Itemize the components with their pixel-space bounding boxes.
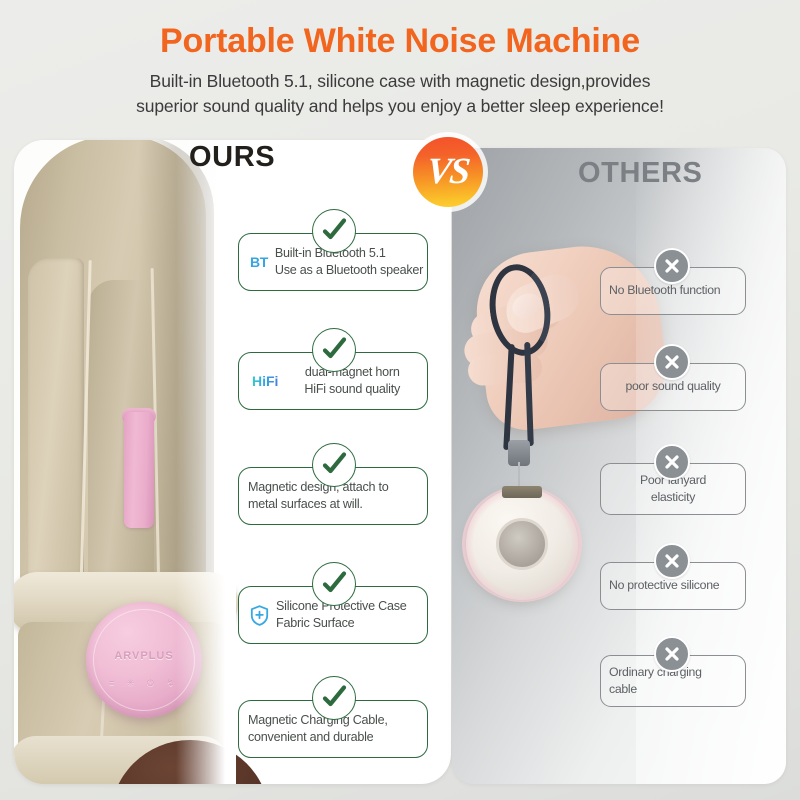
others-con-line: cable: [609, 681, 739, 698]
ours-feature-text: dual-magnet hornHiFi sound quality: [285, 364, 419, 399]
ours-feature-box[interactable]: BTBuilt-in Bluetooth 5.1Use as a Bluetoo…: [238, 233, 428, 291]
ours-product-photo: ARVPLUS ≡ ✳ ⏻ ↯: [14, 140, 236, 784]
check-icon: [312, 443, 356, 487]
check-icon: [312, 328, 356, 372]
ours-feature-line: dual-magnet horn: [285, 364, 419, 381]
check-icon: [312, 676, 356, 720]
others-con-line: No protective silicone: [609, 577, 739, 594]
ours-feature-text: Built-in Bluetooth 5.1Use as a Bluetooth…: [275, 245, 423, 280]
subtitle-line-2: superior sound quality and helps you enj…: [0, 94, 800, 119]
photo-fade-overlay: [176, 140, 236, 784]
ours-feature-line: HiFi sound quality: [285, 381, 419, 398]
vs-badge-circle: VS: [413, 137, 483, 207]
check-glyph: [321, 337, 347, 363]
ours-feature-line: metal surfaces at will.: [248, 496, 419, 513]
seat-side-bolster: [28, 258, 84, 588]
subtitle-line-1: Built-in Bluetooth 5.1, silicone case wi…: [0, 69, 800, 94]
page-title: Portable White Noise Machine: [0, 0, 800, 58]
ours-feature-box[interactable]: Magnetic design, attach tometal surfaces…: [238, 467, 428, 525]
vs-badge-label: VS: [425, 153, 470, 190]
check-glyph: [321, 218, 347, 244]
ours-feature-text: Silicone Protective CaseFabric Surface: [276, 598, 419, 633]
vs-badge: VS: [408, 132, 488, 212]
x-glyph: [663, 257, 681, 275]
ours-feature-line: convenient and durable: [248, 729, 419, 746]
header: Portable White Noise Machine Built-in Bl…: [0, 0, 800, 119]
check-icon: [312, 562, 356, 606]
others-con-box[interactable]: Ordinary chargingcable: [600, 655, 746, 707]
others-con-line: poor sound quality: [607, 378, 739, 395]
others-con-box[interactable]: poor sound quality: [600, 363, 746, 411]
x-icon: [654, 444, 690, 480]
others-con-box[interactable]: No Bluetooth function: [600, 267, 746, 315]
shield-plus-glyph: [250, 605, 269, 626]
x-icon: [654, 344, 690, 380]
ours-feature-line: Fabric Surface: [276, 615, 419, 632]
ours-feature-box[interactable]: HiFidual-magnet hornHiFi sound quality: [238, 352, 428, 410]
x-glyph: [663, 453, 681, 471]
bluetooth-tag: BT: [248, 254, 268, 270]
x-glyph: [663, 552, 681, 570]
hifi-tag: HiFi: [248, 373, 278, 389]
competitor-device-mount: [502, 486, 542, 498]
x-glyph: [663, 645, 681, 663]
pink-magnetic-strap: [124, 412, 154, 528]
others-con-line: elasticity: [607, 489, 739, 506]
others-con-line: No Bluetooth function: [609, 282, 739, 299]
others-heading: OTHERS: [578, 157, 702, 190]
shield-plus-icon: [248, 605, 269, 626]
others-con-text: No protective silicone: [607, 577, 739, 594]
ours-feature-line: Use as a Bluetooth speaker: [275, 262, 423, 279]
others-con-text: No Bluetooth function: [607, 282, 739, 299]
x-glyph: [663, 353, 681, 371]
others-con-box[interactable]: No protective silicone: [600, 562, 746, 610]
ours-heading: OURS: [189, 141, 275, 174]
ours-feature-box[interactable]: Magnetic Charging Cable,convenient and d…: [238, 700, 428, 758]
ours-feature-line: Built-in Bluetooth 5.1: [275, 245, 423, 262]
competitor-noise-machine: [466, 488, 578, 600]
x-icon: [654, 248, 690, 284]
others-con-text: poor sound quality: [607, 378, 739, 395]
check-glyph: [321, 685, 347, 711]
check-glyph: [321, 452, 347, 478]
competitor-device-speaker: [496, 518, 548, 570]
others-con-box[interactable]: Poor lanyardelasticity: [600, 463, 746, 515]
ours-feature-box[interactable]: Silicone Protective CaseFabric Surface: [238, 586, 428, 644]
check-glyph: [321, 571, 347, 597]
x-icon: [654, 636, 690, 672]
check-icon: [312, 209, 356, 253]
page-subtitle: Built-in Bluetooth 5.1, silicone case wi…: [0, 58, 800, 119]
infographic-page: Portable White Noise Machine Built-in Bl…: [0, 0, 800, 800]
x-icon: [654, 543, 690, 579]
